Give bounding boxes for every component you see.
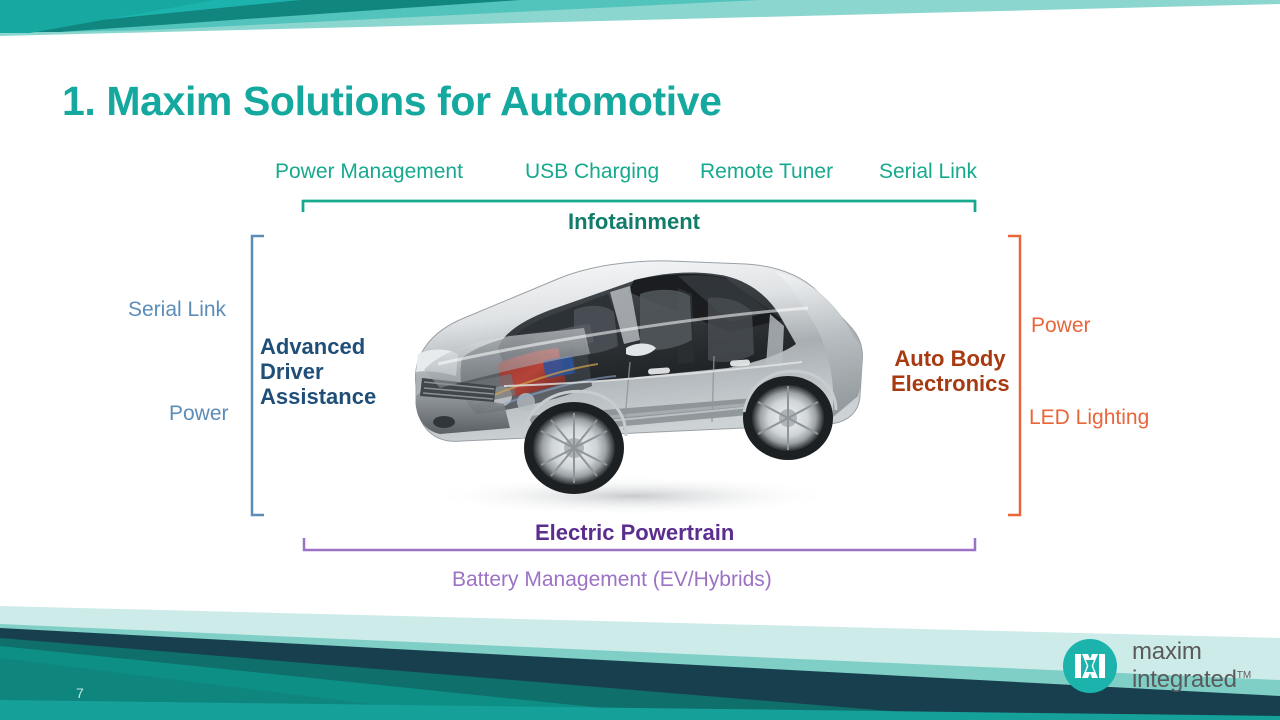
slide-canvas: 1. Maxim Solutions for Automotive Power …: [0, 0, 1280, 720]
logo-wordmark: maxim integratedTM: [1132, 640, 1251, 692]
page-number: 7: [76, 685, 84, 701]
adas-line-1: Advanced: [260, 334, 376, 359]
feature-serial-link-left: Serial Link: [128, 298, 226, 322]
car-seat-rear2: [708, 298, 754, 362]
feature-power-left: Power: [169, 402, 229, 426]
car-wheel-rear: [743, 376, 833, 460]
group-heading-infotainment: Infotainment: [568, 209, 700, 235]
feature-power-right: Power: [1031, 314, 1091, 338]
car-wheel-front: [524, 402, 624, 494]
logo-trademark: TM: [1237, 670, 1251, 681]
maxim-logo-icon: [1062, 638, 1118, 694]
feature-serial-link-top: Serial Link: [879, 160, 977, 184]
car-foglight: [433, 416, 455, 428]
feature-remote-tuner: Remote Tuner: [700, 160, 833, 184]
feature-power-management: Power Management: [275, 160, 463, 184]
bracket-auto-body: [1008, 236, 1020, 515]
logo-text-maxim: maxim: [1132, 640, 1251, 664]
auto-body-line-2: Electronics: [891, 371, 1009, 396]
adas-line-3: Assistance: [260, 384, 376, 409]
cutaway-car-photo: [378, 236, 884, 526]
feature-usb-charging: USB Charging: [525, 160, 659, 184]
auto-body-line-1: Auto Body: [891, 346, 1009, 371]
group-heading-adas: Advanced Driver Assistance: [260, 334, 376, 409]
group-heading-auto-body: Auto Body Electronics: [891, 346, 1009, 396]
feature-battery-management: Battery Management (EV/Hybrids): [452, 568, 772, 592]
car-shadow: [428, 476, 838, 516]
logo-integrated-word: integrated: [1132, 666, 1237, 693]
logo-text-integrated: integratedTM: [1132, 664, 1251, 692]
adas-line-2: Driver: [260, 359, 376, 384]
maxim-integrated-logo: maxim integratedTM: [1062, 638, 1251, 694]
feature-led-lighting: LED Lighting: [1029, 406, 1149, 430]
